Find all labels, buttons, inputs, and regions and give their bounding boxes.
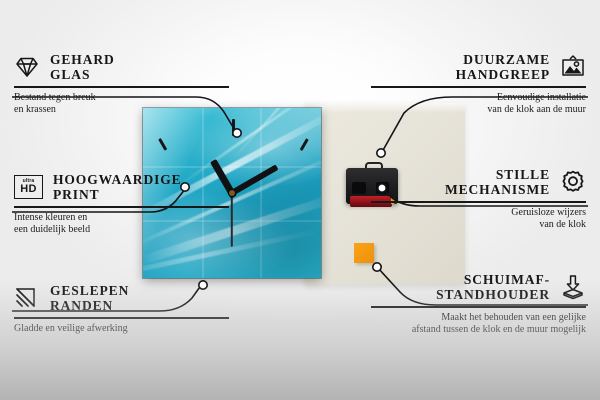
beveled-edges-icon bbox=[14, 285, 40, 311]
feature-gehard-glas: GEHARD GLAS Bestand tegen breuk en krass… bbox=[14, 52, 229, 116]
feature-description: Geruisloze wijzers van de klok bbox=[371, 207, 586, 231]
feature-divider bbox=[371, 306, 586, 308]
feature-divider bbox=[371, 86, 586, 88]
feature-description: Eenvoudige installatie van de klok aan d… bbox=[371, 92, 586, 116]
feature-title: STILLE MECHANISME bbox=[445, 167, 550, 197]
hanging-picture-icon bbox=[560, 54, 586, 80]
feature-description: Gladde en veilige afwerking bbox=[14, 323, 229, 335]
feature-title: GEHARD GLAS bbox=[50, 52, 115, 82]
feature-title: DUURZAME HANDGREEP bbox=[456, 52, 550, 82]
feature-header: ultra HD HOOGWAARDIGE PRINT bbox=[14, 172, 229, 202]
press-down-pad-icon bbox=[560, 274, 586, 300]
mechanism-slot bbox=[352, 182, 366, 194]
feature-header: STILLE MECHANISME bbox=[371, 167, 586, 197]
feature-title: GESLEPEN RANDEN bbox=[50, 283, 129, 313]
feature-title: HOOGWAARDIGE PRINT bbox=[53, 172, 182, 202]
feature-header: GESLEPEN RANDEN bbox=[14, 283, 229, 313]
foam-spacer-pad bbox=[354, 243, 374, 263]
ultra-hd-large-label: HD bbox=[20, 184, 37, 195]
feature-divider bbox=[371, 201, 586, 203]
feature-description: Maakt het behouden van een gelijke afsta… bbox=[371, 312, 586, 336]
gear-icon bbox=[560, 169, 586, 195]
hour-tick bbox=[232, 119, 235, 136]
product-feature-infographic: GEHARD GLAS Bestand tegen breuk en krass… bbox=[0, 0, 600, 400]
feature-divider bbox=[14, 206, 229, 208]
feature-description: Bestand tegen breuk en krassen bbox=[14, 92, 229, 116]
feature-header: GEHARD GLAS bbox=[14, 52, 229, 82]
diamond-icon bbox=[14, 54, 40, 80]
feature-header: DUURZAME HANDGREEP bbox=[371, 52, 586, 82]
feature-hoogwaardige-print: ultra HD HOOGWAARDIGE PRINT Intense kleu… bbox=[14, 172, 229, 236]
feature-divider bbox=[14, 86, 229, 88]
ultra-hd-icon: ultra HD bbox=[14, 175, 43, 199]
feature-title: SCHUIMAF- STANDHOUDER bbox=[436, 272, 550, 302]
feature-header: SCHUIMAF- STANDHOUDER bbox=[371, 272, 586, 302]
feature-schuimafstandhouder: SCHUIMAF- STANDHOUDER Maakt het behouden… bbox=[371, 272, 586, 336]
feature-divider bbox=[14, 317, 229, 319]
feature-geslepen-randen: GESLEPEN RANDEN Gladde en veilige afwerk… bbox=[14, 283, 229, 335]
feature-stille-mechanisme: STILLE MECHANISME Geruisloze wijzers van… bbox=[371, 167, 586, 231]
feature-duurzame-handgreep: DUURZAME HANDGREEP Eenvoudige installati… bbox=[371, 52, 586, 116]
clock-center-hub bbox=[229, 190, 235, 196]
feature-description: Intense kleuren en een duidelijk beeld bbox=[14, 212, 229, 236]
